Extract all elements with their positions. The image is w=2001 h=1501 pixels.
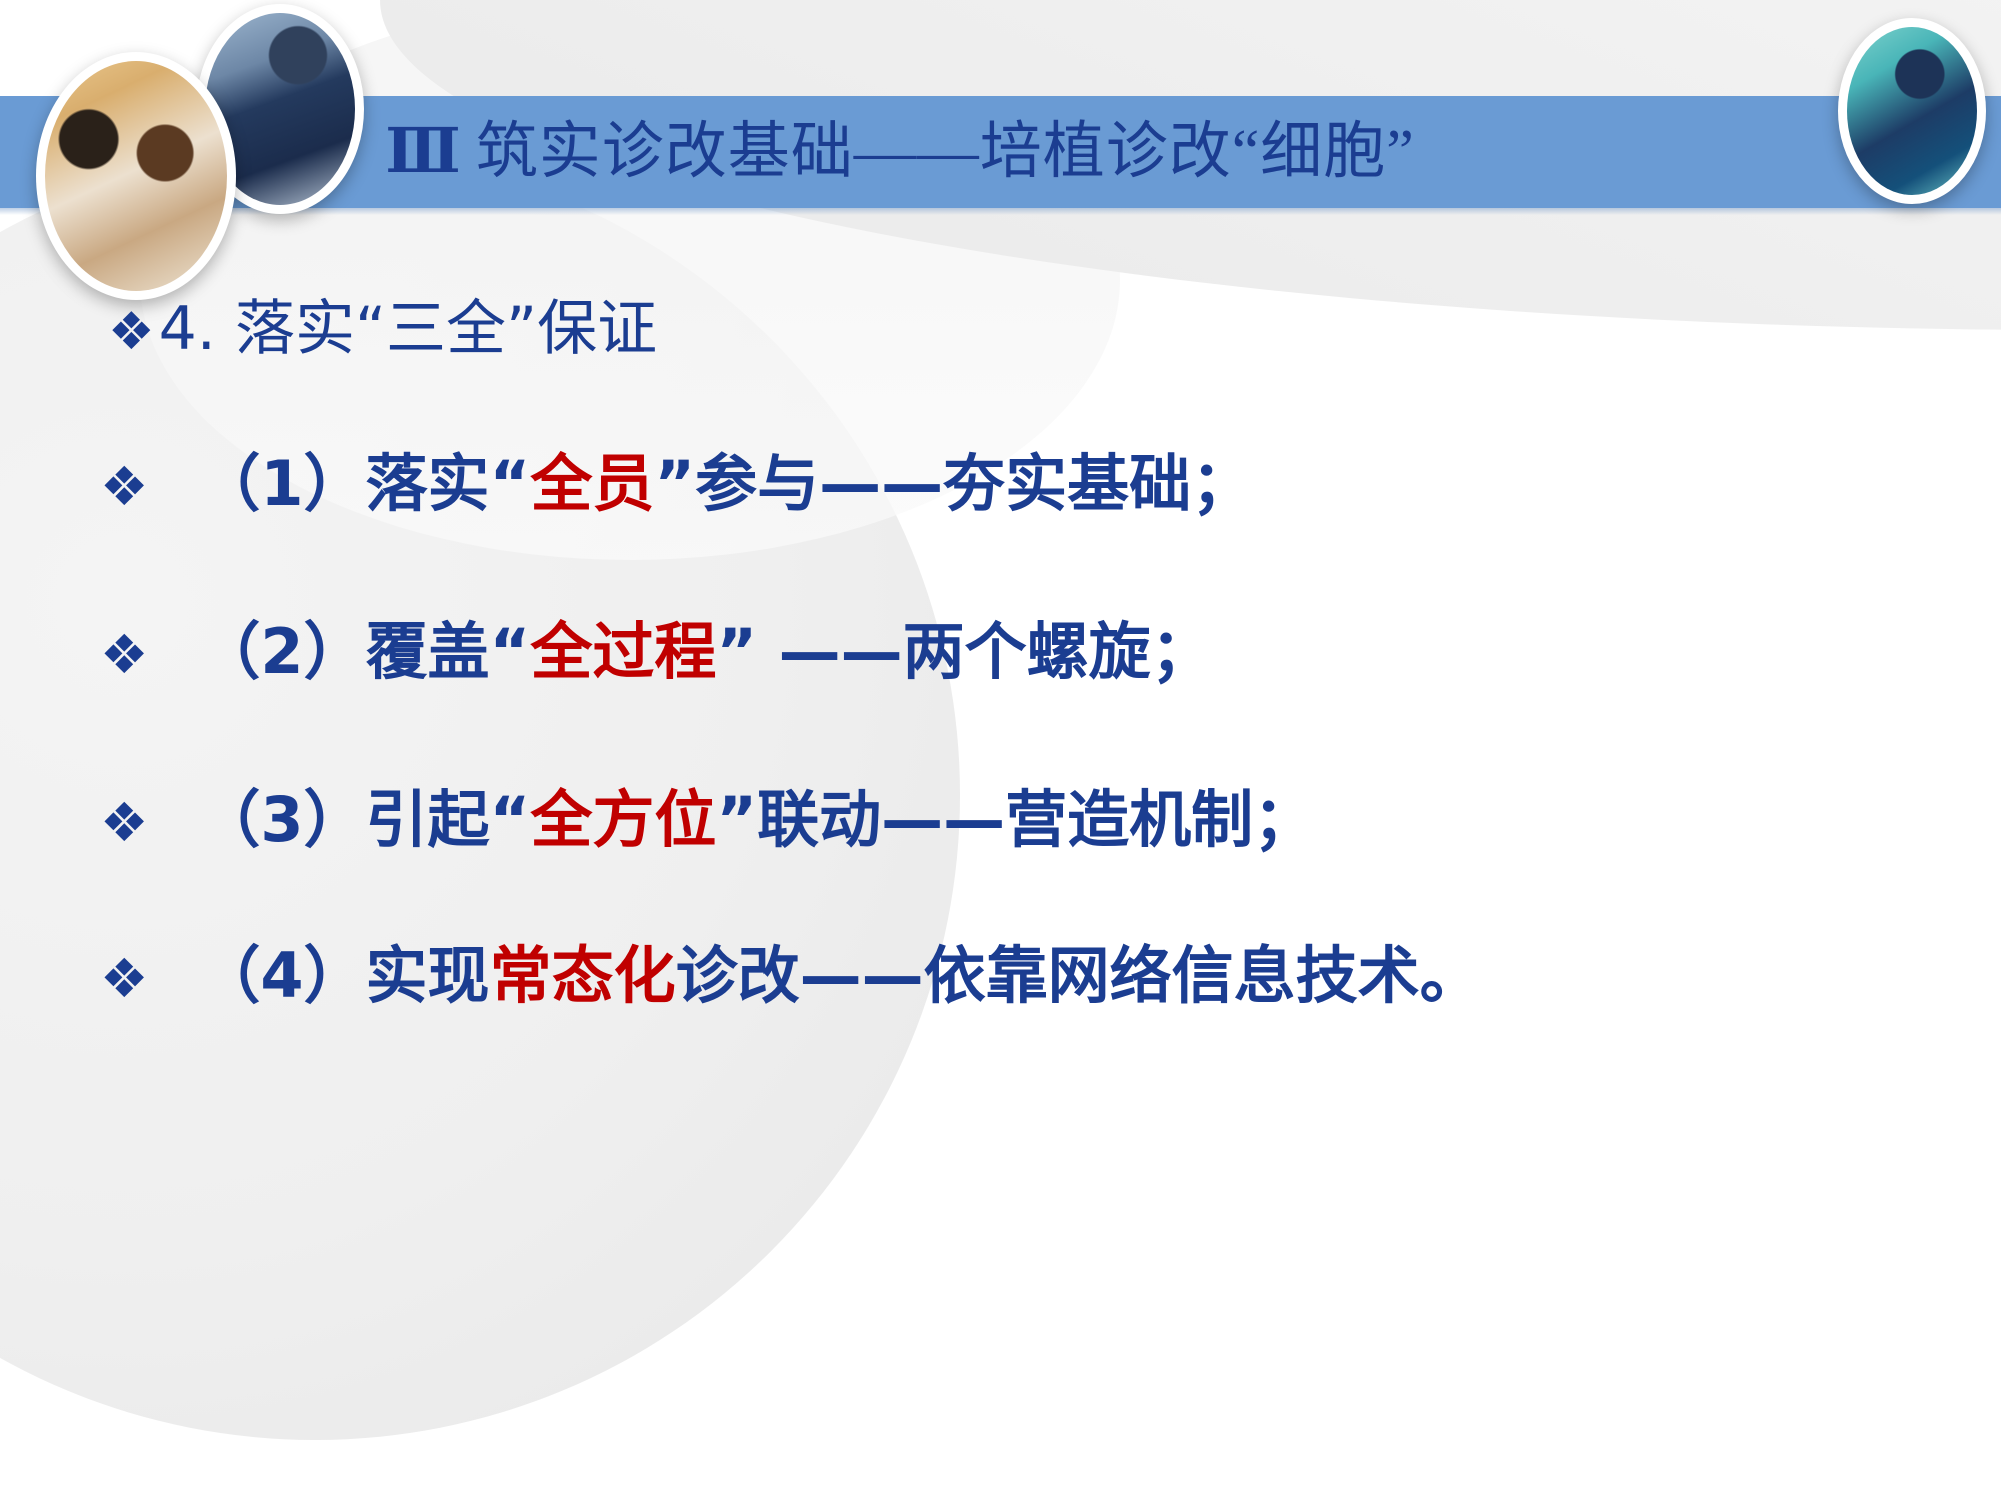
diamond-bullet-icon: ❖ [100,796,148,850]
text-run: 4. 落实 [159,294,355,364]
slide-body: ❖ 4. 落实“三全”保证 ❖ （1）落实“全员”参与——夯实基础； ❖ （2）… [0,230,2001,1501]
bullet-item-1: ❖ （1）落实“全员”参与——夯实基础； [100,450,1253,518]
slide-title-numeral: Ⅲ [385,118,462,186]
bullet-text-3: （3）引起“全方位”联动——营造机制； [198,786,1315,854]
text-run: “三全” [355,294,537,364]
text-run: （2）覆盖“ [198,615,530,688]
text-run: （4）实现 [198,939,489,1012]
diamond-bullet-icon: ❖ [100,952,148,1006]
bullet-item-3: ❖ （3）引起“全方位”联动——营造机制； [100,786,1315,854]
text-run: （1）落实“ [198,447,530,520]
bullet-text-2: （2）覆盖“全过程” ——两个螺旋； [198,618,1212,686]
text-run: 保证 [537,294,657,364]
text-run: 全过程 [530,615,716,688]
text-run: 诊改——依靠网络信息技术。 [676,939,1482,1012]
diamond-bullet-icon: ❖ [108,306,155,358]
photo-presenter-teal-icon [1838,18,1986,204]
bullet-text-1: （1）落实“全员”参与——夯实基础； [198,450,1253,518]
text-run: ”联动——营造机制； [716,783,1315,856]
bullet-item-4: ❖ （4）实现常态化诊改——依靠网络信息技术。 [100,942,1482,1010]
bullet-text-4: （4）实现常态化诊改——依靠网络信息技术。 [198,942,1481,1010]
photo-presenter-teal-image [1847,27,1977,195]
diamond-bullet-icon: ❖ [100,460,148,514]
bullet-text-0: 4. 落实“三全”保证 [159,296,658,362]
bullet-item-0: ❖ 4. 落实“三全”保证 [108,296,657,362]
text-run: 全方位 [530,783,716,856]
bullet-item-2: ❖ （2）覆盖“全过程” ——两个螺旋； [100,618,1213,686]
text-run: 全员 [530,447,654,520]
diamond-bullet-icon: ❖ [100,628,148,682]
text-run: （3）引起“ [198,783,530,856]
text-run: ” ——两个螺旋； [716,615,1212,688]
text-run: ”参与——夯实基础； [654,447,1253,520]
text-run: 常态化 [490,939,676,1012]
slide-title-text: 筑实诊改基础——培植诊改“细胞” [476,118,1415,186]
